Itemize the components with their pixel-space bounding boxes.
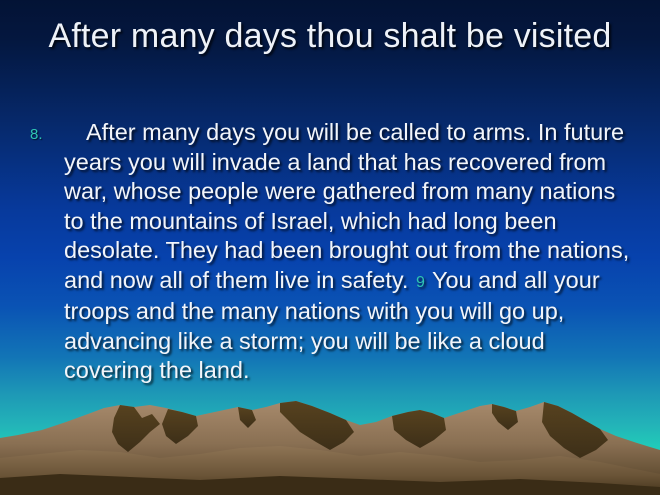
mountain-base-shadow xyxy=(0,474,660,495)
mountain-shadow-left-2 xyxy=(162,409,198,444)
mountain-shadow-center xyxy=(280,401,354,450)
sea-band xyxy=(440,453,660,495)
body-paragraph: After many days you will be called to ar… xyxy=(64,118,630,386)
mountain-shadow-right-peak xyxy=(542,402,608,458)
mountain-ridge-light xyxy=(0,401,660,495)
bullet-number: 8. xyxy=(30,118,64,150)
verse-marker-9: 9 xyxy=(415,274,426,291)
mountain-shadow-far-right xyxy=(492,404,518,430)
mountain-range-illustration xyxy=(0,380,660,495)
mountain-shadow-center-small xyxy=(238,407,256,428)
mountain-shadow-left xyxy=(112,405,160,452)
mountain-svg xyxy=(0,380,660,495)
mountain-foreground xyxy=(0,446,660,495)
mountain-shadow-right-ridge xyxy=(392,410,446,448)
slide-title: After many days thou shalt be visited xyxy=(40,16,620,56)
presentation-slide: After many days thou shalt be visited 8.… xyxy=(0,0,660,495)
slide-body: 8. After many days you will be called to… xyxy=(30,118,630,386)
